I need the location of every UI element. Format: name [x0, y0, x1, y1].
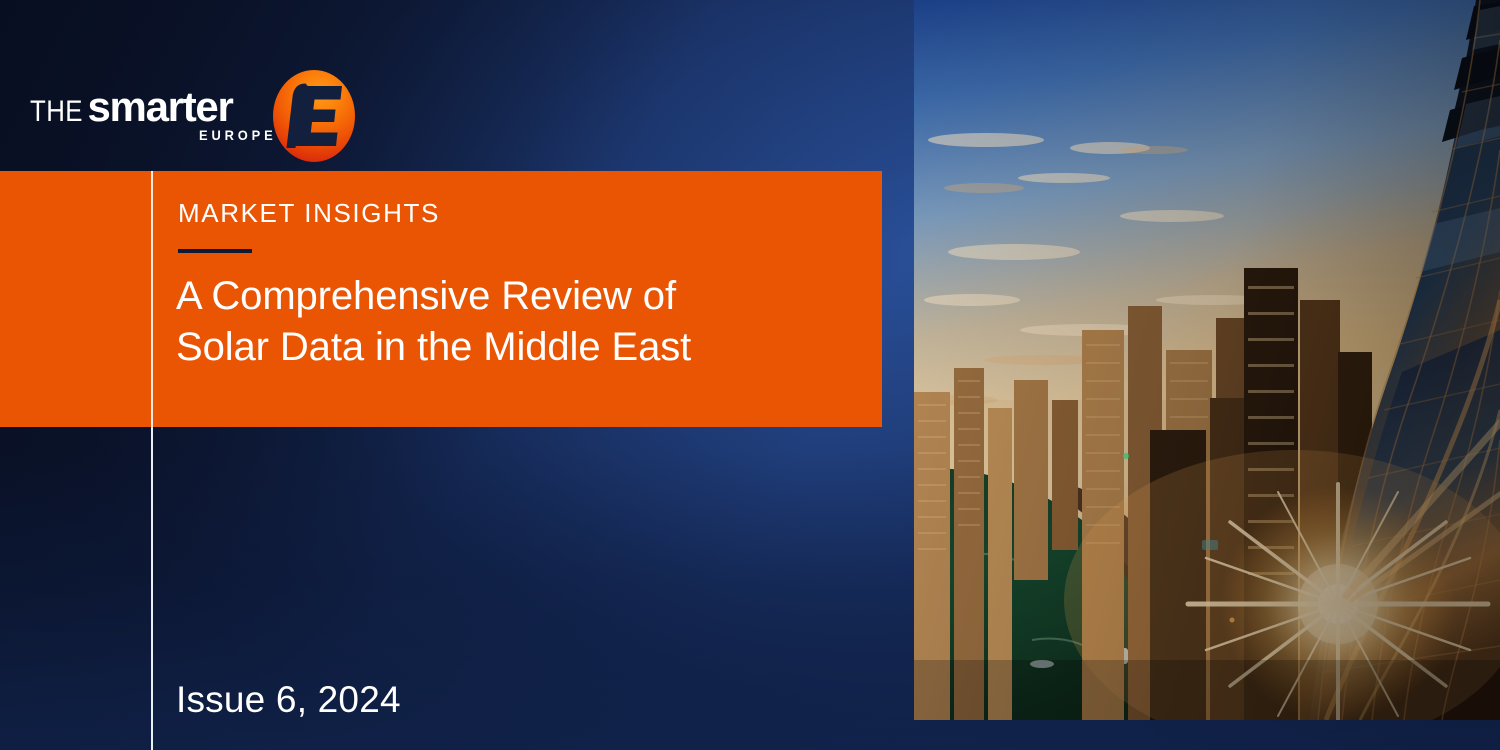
market-insights-banner: MARKET INSIGHTS A Comprehensive Review o…	[0, 171, 882, 427]
logo-e-glyph-icon	[273, 70, 355, 162]
issue-label: Issue 6, 2024	[176, 679, 401, 721]
page-title: A Comprehensive Review of Solar Data in …	[176, 271, 856, 373]
logo-europe-text: EUROPE	[199, 127, 277, 143]
page-title-line-1: A Comprehensive Review of	[176, 271, 856, 322]
logo-the-text: THE	[30, 97, 83, 127]
logo-wordmark: THEsmarter	[30, 86, 233, 128]
eyebrow-label: MARKET INSIGHTS	[178, 198, 440, 229]
vertical-accent-rule-banner-segment	[151, 171, 153, 427]
logo-smarter-text: smarter	[88, 86, 233, 128]
brand-logo[interactable]: THEsmarter EUROPE	[30, 70, 330, 162]
eyebrow-divider	[178, 249, 252, 253]
city-skyline-sunset-photo	[914, 0, 1500, 720]
page-title-line-2: Solar Data in the Middle East	[176, 322, 856, 373]
smarter-e-circle-icon	[273, 70, 355, 162]
cover-photo	[914, 0, 1500, 720]
cover-page: THEsmarter EUROPE	[0, 0, 1500, 750]
